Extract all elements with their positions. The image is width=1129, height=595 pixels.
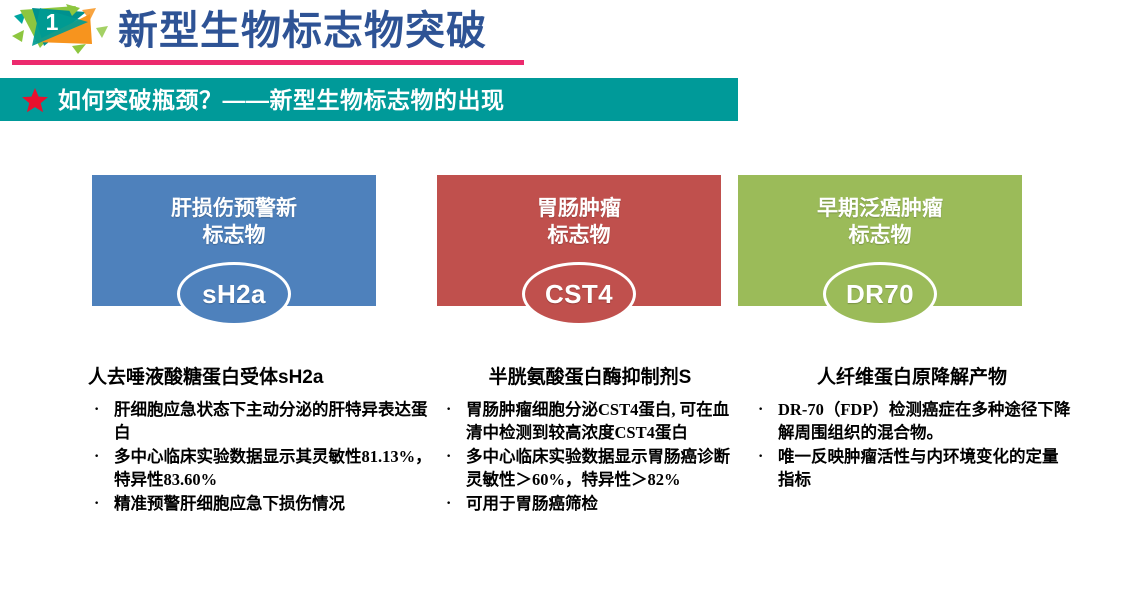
- card-title: 胃肠肿瘤 标志物: [437, 195, 721, 249]
- card-title-line1: 胃肠肿瘤: [437, 195, 721, 222]
- card-title: 肝损伤预警新 标志物: [92, 195, 376, 249]
- list-item: · 胃肠肿瘤细胞分泌CST4蛋白, 可在血清中检测到较高浓度CST4蛋白: [440, 398, 740, 444]
- marker-card-sh2a: 肝损伤预警新 标志物 sH2a: [92, 175, 376, 306]
- red-star-icon: [22, 87, 48, 113]
- description-list: · DR-70（FDP）检测癌症在多种途径下降解周围组织的混合物。 · 唯一反映…: [752, 398, 1072, 491]
- list-item-text: 多中心临床实验数据显示胃肠癌诊断灵敏性＞60%，特异性＞82%: [466, 447, 730, 489]
- bullet-icon: ·: [94, 492, 99, 515]
- section-banner-text: 如何突破瓶颈？——新型生物标志物的出现: [58, 86, 505, 114]
- marker-card-dr70: 早期泛癌肿瘤 标志物 DR70: [738, 175, 1022, 306]
- list-item-text: 肝细胞应急状态下主动分泌的肝特异表达蛋白: [114, 400, 428, 442]
- list-item: · 精准预警肝细胞应急下损伤情况: [88, 492, 438, 515]
- slide-header: 1 新型生物标志物突破: [0, 0, 1129, 76]
- description-column-cst4: 半胱氨酸蛋白酶抑制剂S · 胃肠肿瘤细胞分泌CST4蛋白, 可在血清中检测到较高…: [440, 366, 740, 516]
- card-bubble-label: CST4: [522, 262, 636, 326]
- description-column-dr70: 人纤维蛋白原降解产物 · DR-70（FDP）检测癌症在多种途径下降解周围组织的…: [752, 366, 1072, 492]
- list-item-text: 多中心临床实验数据显示其灵敏性81.13%，特异性83.60%: [114, 447, 432, 489]
- list-item: · 多中心临床实验数据显示胃肠癌诊断灵敏性＞60%，特异性＞82%: [440, 445, 740, 491]
- card-title: 早期泛癌肿瘤 标志物: [738, 195, 1022, 249]
- list-item: · 可用于胃肠癌筛检: [440, 492, 740, 515]
- bullet-icon: ·: [446, 398, 451, 421]
- card-title-line2: 标志物: [738, 222, 1022, 249]
- bullet-icon: ·: [758, 445, 763, 468]
- card-title-line1: 早期泛癌肿瘤: [738, 195, 1022, 222]
- logo-number: 1: [38, 8, 66, 36]
- bullet-icon: ·: [446, 492, 451, 515]
- description-list: · 胃肠肿瘤细胞分泌CST4蛋白, 可在血清中检测到较高浓度CST4蛋白 · 多…: [440, 398, 740, 515]
- list-item-text: DR-70（FDP）检测癌症在多种途径下降解周围组织的混合物。: [778, 400, 1070, 442]
- bullet-icon: ·: [94, 445, 99, 468]
- title-underline: [12, 60, 524, 65]
- list-item-text: 胃肠肿瘤细胞分泌CST4蛋白, 可在血清中检测到较高浓度CST4蛋白: [466, 400, 729, 442]
- description-heading: 人去唾液酸糖蛋白受体sH2a: [88, 366, 438, 390]
- page-title: 新型生物标志物突破: [118, 4, 487, 58]
- bullet-icon: ·: [94, 398, 99, 421]
- list-item-text: 可用于胃肠癌筛检: [466, 494, 598, 513]
- description-column-sh2a: 人去唾液酸糖蛋白受体sH2a · 肝细胞应急状态下主动分泌的肝特异表达蛋白 · …: [88, 366, 438, 516]
- card-bubble-label: DR70: [823, 262, 937, 326]
- card-title-line2: 标志物: [437, 222, 721, 249]
- list-item: · 多中心临床实验数据显示其灵敏性81.13%，特异性83.60%: [88, 445, 438, 491]
- list-item: · 唯一反映肿瘤活性与内环境变化的定量指标: [752, 445, 1072, 491]
- card-title-line1: 肝损伤预警新: [92, 195, 376, 222]
- bullet-icon: ·: [758, 398, 763, 421]
- list-item: · 肝细胞应急状态下主动分泌的肝特异表达蛋白: [88, 398, 438, 444]
- bullet-icon: ·: [446, 445, 451, 468]
- list-item: · DR-70（FDP）检测癌症在多种途径下降解周围组织的混合物。: [752, 398, 1072, 444]
- list-item-text: 精准预警肝细胞应急下损伤情况: [114, 494, 345, 513]
- section-banner: 如何突破瓶颈？——新型生物标志物的出现: [0, 78, 738, 121]
- description-heading: 半胱氨酸蛋白酶抑制剂S: [440, 366, 740, 390]
- card-bubble-label: sH2a: [177, 262, 291, 326]
- card-title-line2: 标志物: [92, 222, 376, 249]
- description-heading: 人纤维蛋白原降解产物: [752, 366, 1072, 390]
- list-item-text: 唯一反映肿瘤活性与内环境变化的定量指标: [778, 447, 1059, 489]
- description-list: · 肝细胞应急状态下主动分泌的肝特异表达蛋白 · 多中心临床实验数据显示其灵敏性…: [88, 398, 438, 515]
- marker-card-cst4: 胃肠肿瘤 标志物 CST4: [437, 175, 721, 306]
